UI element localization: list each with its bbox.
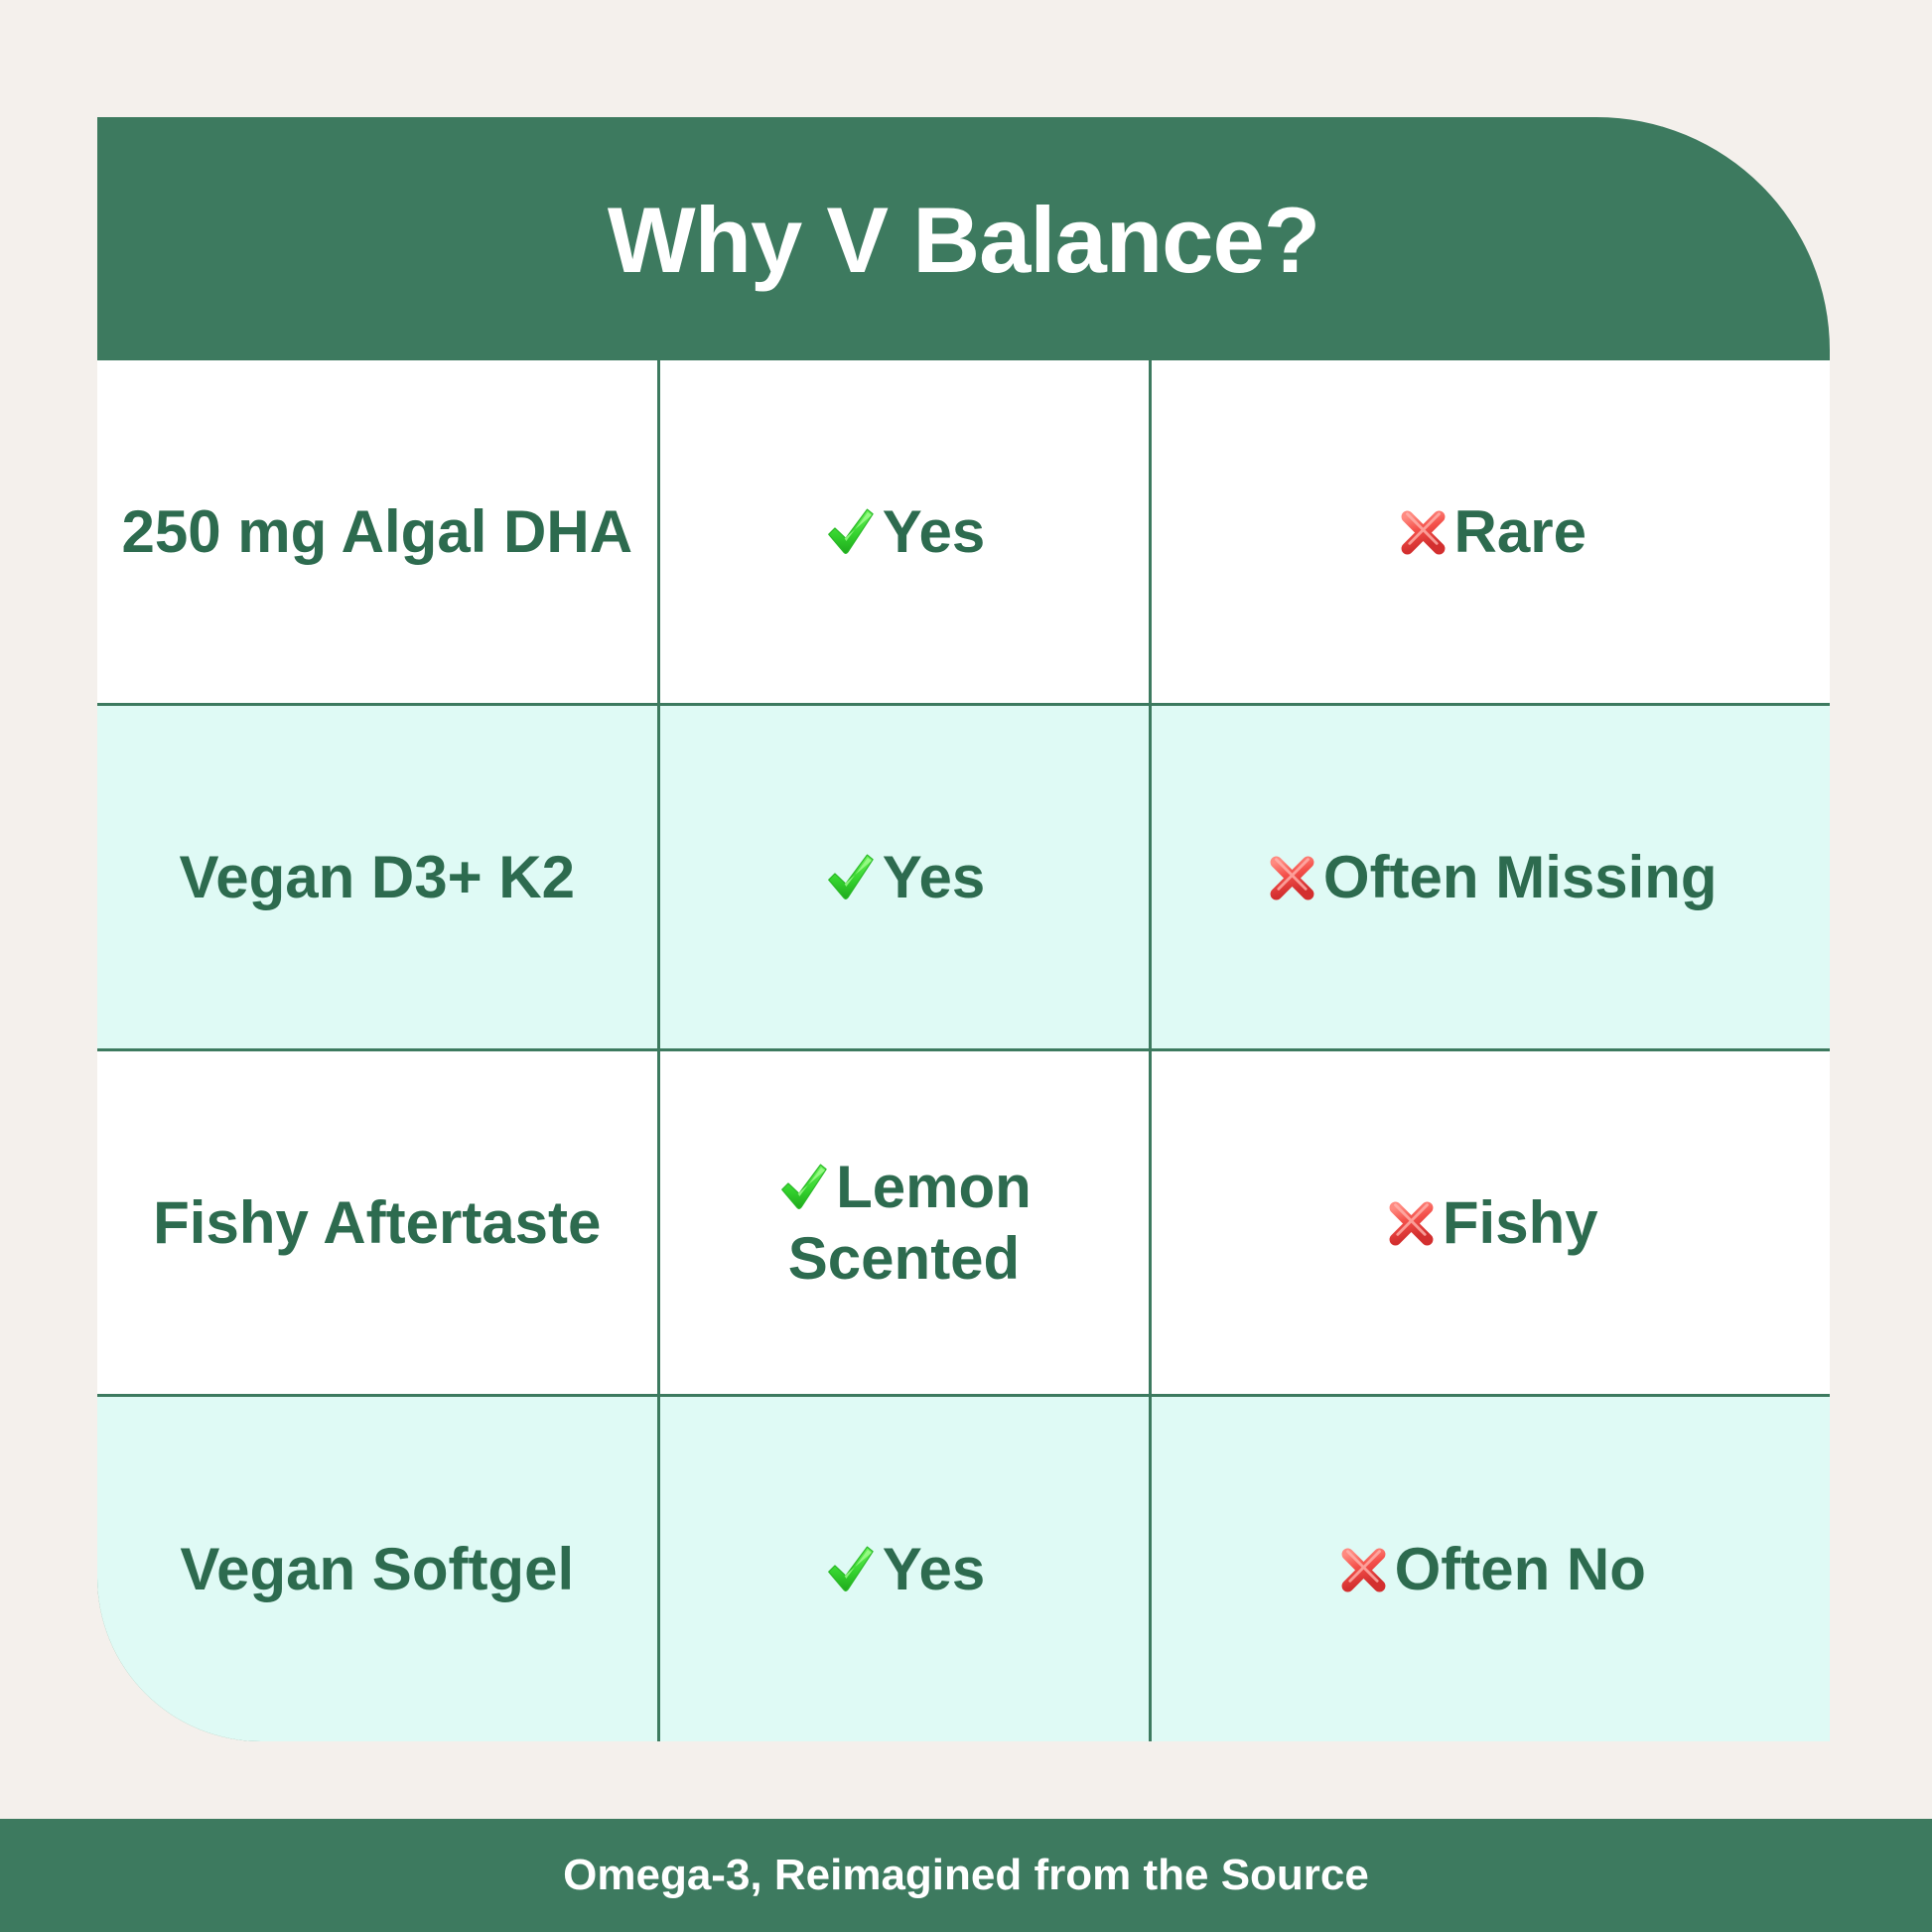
cross-mark-icon — [1395, 504, 1451, 561]
feature-label: 250 mg Algal DHA — [121, 498, 632, 565]
verdict-label: Often No — [1395, 1536, 1646, 1602]
competitor-cell: Fishy — [1150, 1050, 1830, 1396]
feature-cell: Vegan Softgel — [97, 1396, 658, 1741]
cross-mark-icon — [1335, 1542, 1392, 1598]
card-header: Why V Balance? — [97, 117, 1830, 357]
check-mark-icon — [823, 1542, 880, 1598]
our-product-cell: Lemon Scented — [658, 1050, 1150, 1396]
table-row: Fishy Aftertaste — [97, 1050, 1830, 1396]
cross-mark-icon — [1383, 1195, 1440, 1252]
check-mark-icon — [776, 1160, 833, 1216]
our-product-cell: Yes — [658, 359, 1150, 705]
footer-tagline: Omega-3, Reimagined from the Source — [563, 1851, 1369, 1900]
feature-cell: Vegan D3+ K2 — [97, 705, 658, 1050]
check-mark-icon — [823, 850, 880, 906]
feature-label: Fishy Aftertaste — [153, 1189, 601, 1256]
competitor-cell: Rare — [1150, 359, 1830, 705]
feature-cell: Fishy Aftertaste — [97, 1050, 658, 1396]
our-product-cell: Yes — [658, 705, 1150, 1050]
footer-bar: Omega-3, Reimagined from the Source — [0, 1819, 1932, 1932]
verdict-label: Rare — [1454, 498, 1587, 565]
verdict-label: Yes — [883, 844, 985, 910]
table-row: Vegan D3+ K2 — [97, 705, 1830, 1050]
feature-label: Vegan D3+ K2 — [179, 844, 575, 910]
comparison-card: Why V Balance? 250 mg Algal DHA — [97, 117, 1830, 1741]
check-mark-icon — [823, 504, 880, 561]
verdict-label: Yes — [883, 498, 985, 565]
verdict-label: Often Missing — [1323, 844, 1718, 910]
verdict-label: Fishy — [1443, 1189, 1598, 1256]
feature-cell: 250 mg Algal DHA — [97, 359, 658, 705]
page-title: Why V Balance? — [608, 194, 1319, 287]
feature-label: Vegan Softgel — [180, 1536, 574, 1602]
competitor-cell: Often Missing — [1150, 705, 1830, 1050]
cross-mark-icon — [1264, 850, 1320, 906]
table-row: Vegan Softgel — [97, 1396, 1830, 1741]
verdict-label: Yes — [883, 1536, 985, 1602]
our-product-cell: Yes — [658, 1396, 1150, 1741]
table-row: 250 mg Algal DHA — [97, 359, 1830, 705]
comparison-table: 250 mg Algal DHA — [97, 357, 1830, 1741]
competitor-cell: Often No — [1150, 1396, 1830, 1741]
